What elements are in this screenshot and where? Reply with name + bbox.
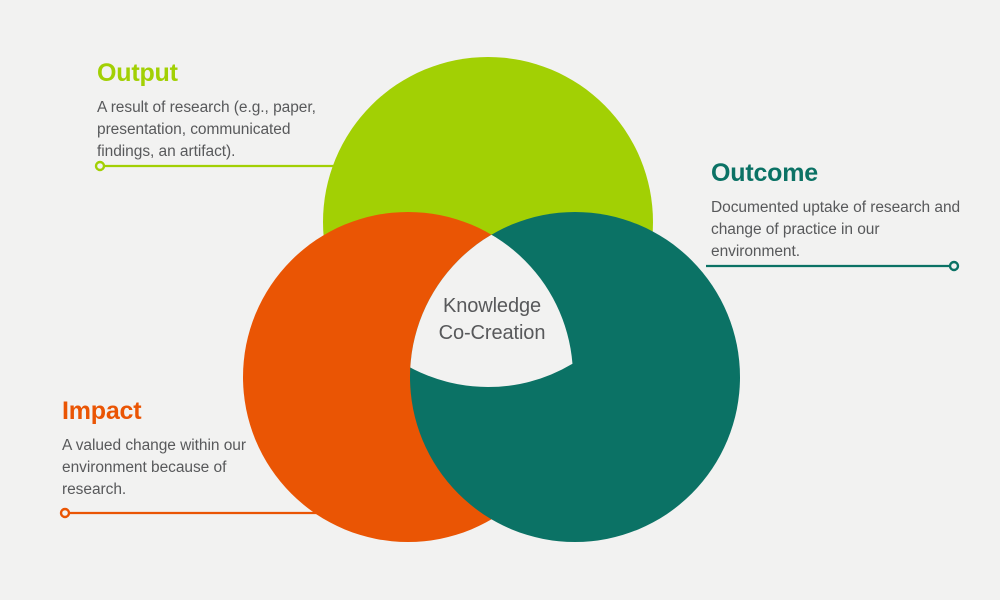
connector-output (96, 162, 334, 170)
connector-endpoint-outcome (950, 262, 958, 270)
callout-outcome-body: Documented uptake of research and change… (711, 197, 967, 263)
connector-impact (61, 509, 318, 517)
center-label-line1: Knowledge (402, 293, 582, 320)
center-label-line2: Co-Creation (402, 320, 582, 347)
callout-impact-body: A valued change within our environment b… (62, 435, 272, 501)
connector-endpoint-impact (61, 509, 69, 517)
callout-outcome: Outcome Documented uptake of research an… (711, 160, 967, 263)
callout-output-title: Output (97, 60, 349, 88)
callout-output: Output A result of research (e.g., paper… (97, 60, 349, 163)
callout-impact-title: Impact (62, 398, 272, 426)
connector-outcome (706, 262, 958, 270)
callout-output-body: A result of research (e.g., paper, prese… (97, 97, 349, 163)
center-label: Knowledge Co-Creation (402, 293, 582, 346)
venn-circle-outcome (410, 212, 740, 542)
connector-endpoint-output (96, 162, 104, 170)
callout-impact: Impact A valued change within our enviro… (62, 398, 272, 501)
callout-outcome-title: Outcome (711, 160, 967, 188)
infographic-canvas: Knowledge Co-Creation Output A result of… (0, 0, 1000, 600)
